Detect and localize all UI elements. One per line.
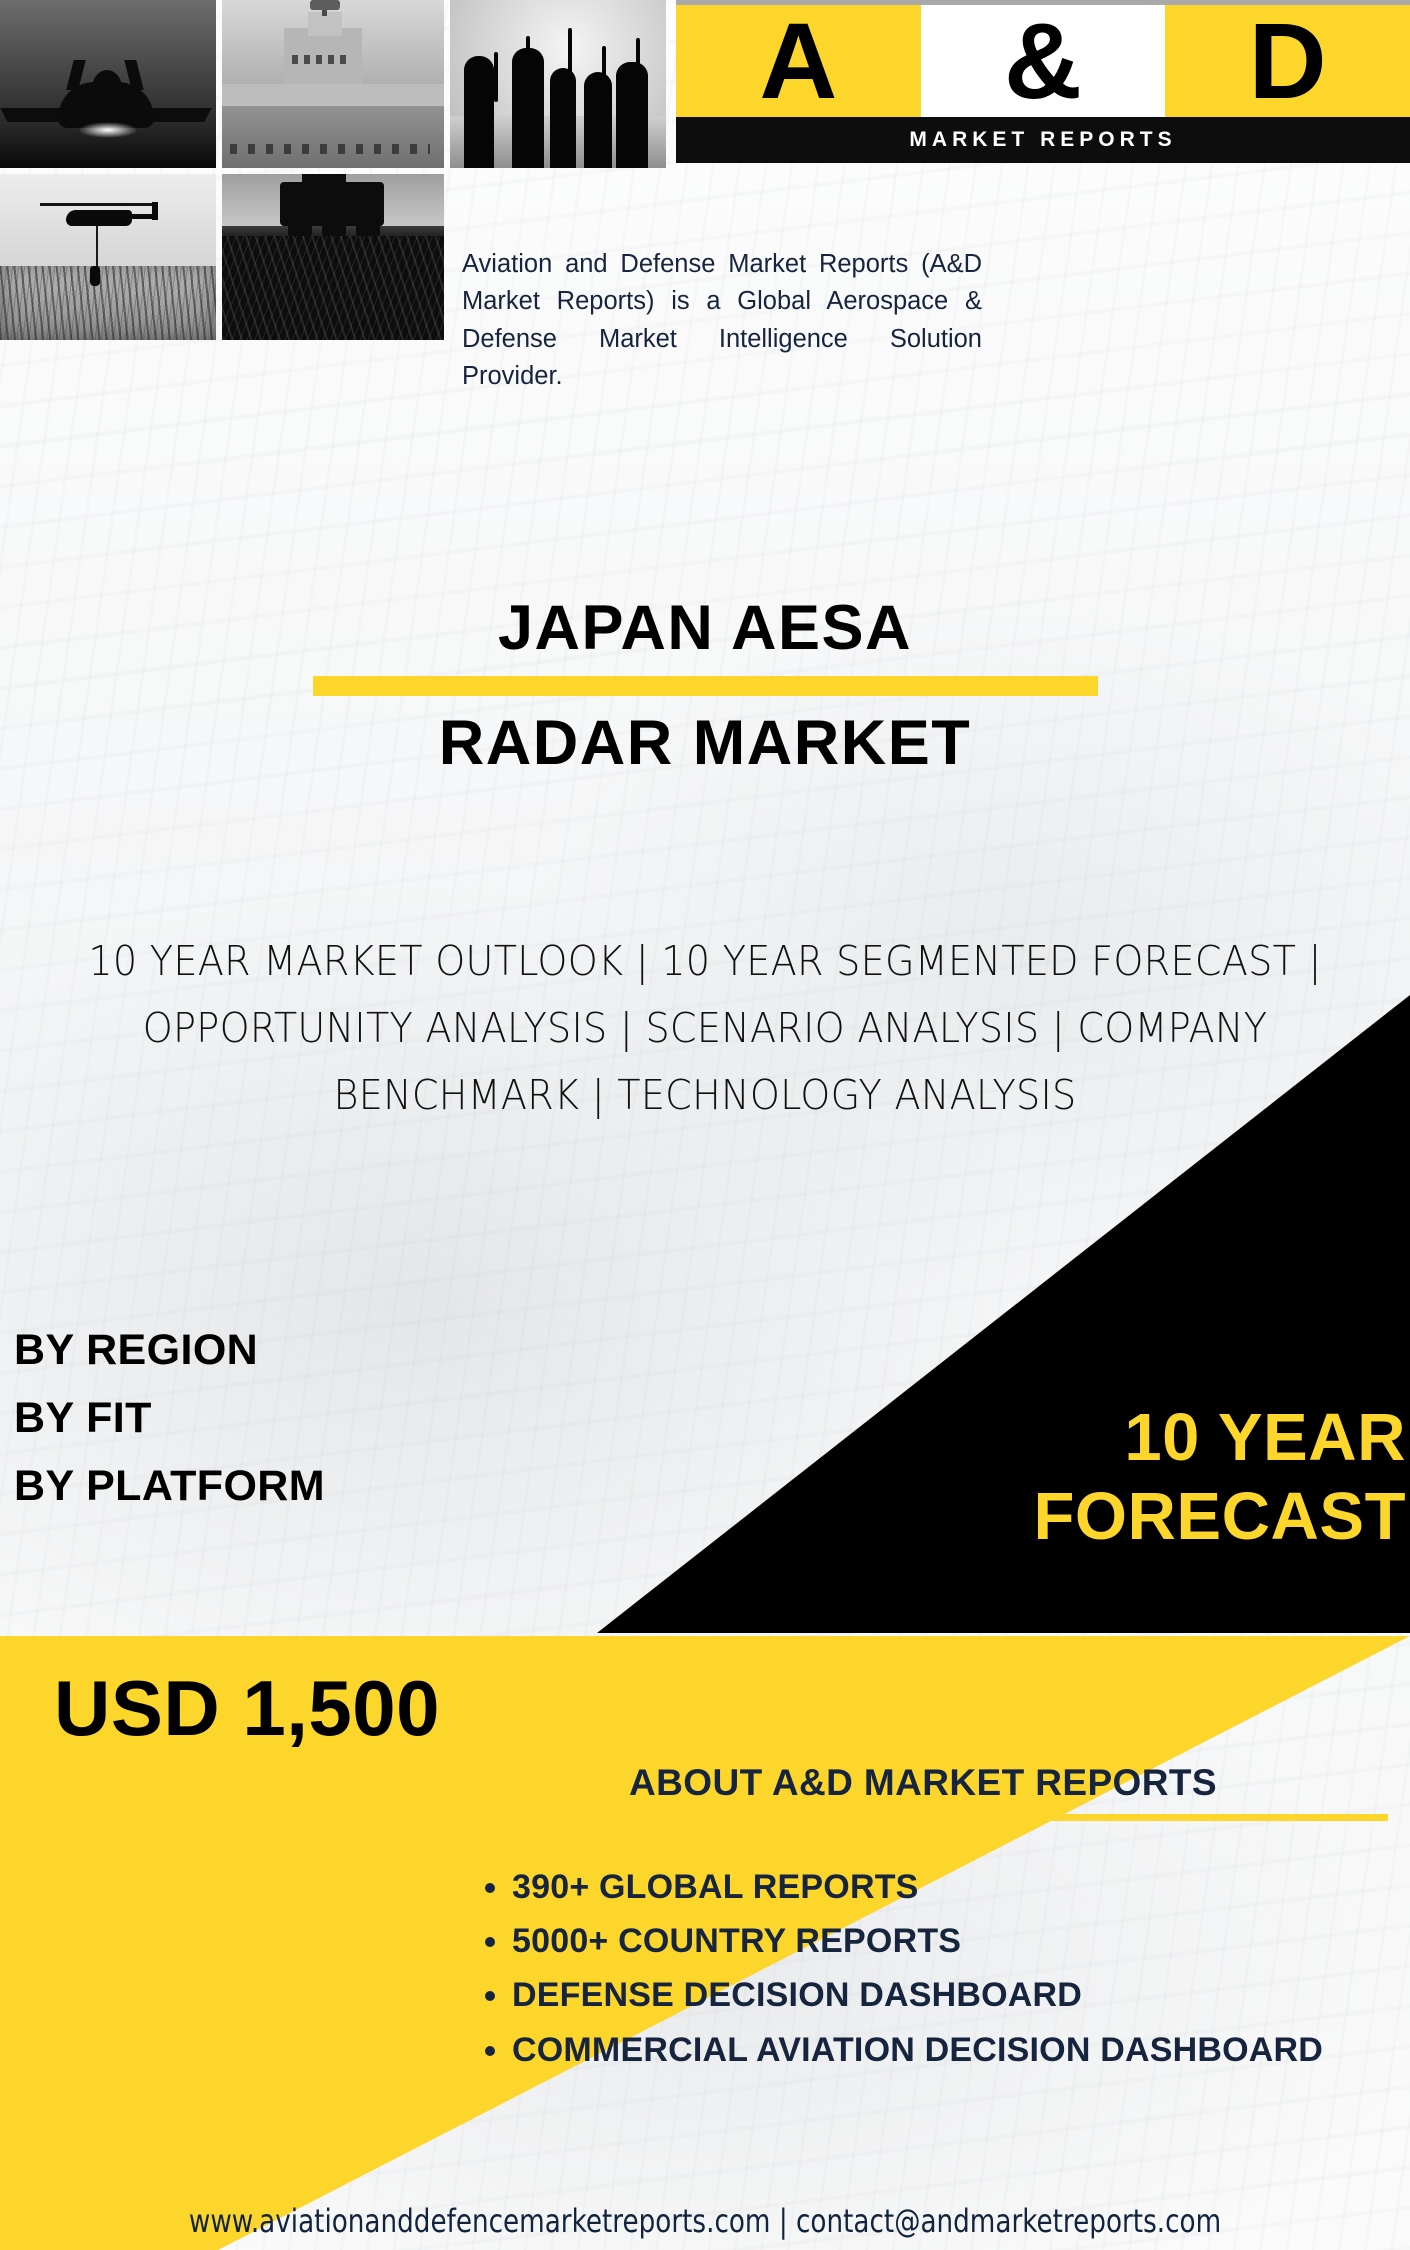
report-scope-subtitle: 10 YEAR MARKET OUTLOOK | 10 YEAR SEGMENT… bbox=[79, 928, 1331, 1128]
logo-letter-d: D bbox=[1165, 5, 1410, 117]
fighter-jet-photo bbox=[0, 0, 216, 168]
list-item: DEFENSE DECISION DASHBOARD bbox=[512, 1973, 1388, 2017]
forecast-badge-line-1: 10 YEAR bbox=[1034, 1398, 1407, 1477]
logo-letter-ampersand: & bbox=[921, 5, 1166, 117]
logo-tagline-bar: MARKET REPORTS bbox=[676, 117, 1410, 163]
photo-row-top bbox=[0, 0, 676, 168]
list-item: COMMERCIAL AVIATION DECISION DASHBOARD bbox=[512, 2028, 1388, 2072]
forecast-badge-line-2: FORECAST bbox=[1034, 1477, 1407, 1556]
logo-letters: A & D bbox=[676, 5, 1410, 117]
logo-letter-a: A bbox=[676, 5, 921, 117]
report-cover-poster: A & D MARKET REPORTS Aviation and Defens… bbox=[0, 0, 1410, 2250]
report-title-line-2: RADAR MARKET bbox=[0, 710, 1410, 777]
segmentation-item-fit: BY FIT bbox=[14, 1385, 325, 1453]
about-bullet-list: 390+ GLOBAL REPORTS 5000+ COUNTRY REPORT… bbox=[458, 1865, 1388, 2072]
segmentation-list: BY REGION BY FIT BY PLATFORM bbox=[14, 1317, 325, 1521]
about-heading: ABOUT A&D MARKET REPORTS bbox=[458, 1762, 1388, 1804]
report-title-line-1: JAPAN AESA bbox=[0, 595, 1410, 662]
about-yellow-rule bbox=[458, 1814, 1388, 1821]
price-label: USD 1,500 bbox=[54, 1663, 440, 1754]
aircraft-carrier-photo bbox=[222, 0, 444, 168]
about-section: ABOUT A&D MARKET REPORTS 390+ GLOBAL REP… bbox=[458, 1762, 1388, 2082]
forecast-badge: 10 YEAR FORECAST bbox=[1034, 1398, 1407, 1556]
list-item: 390+ GLOBAL REPORTS bbox=[512, 1865, 1388, 1909]
helicopter-photo bbox=[0, 174, 216, 340]
list-item: 5000+ COUNTRY REPORTS bbox=[512, 1919, 1388, 1963]
report-title-block: JAPAN AESA RADAR MARKET bbox=[0, 595, 1410, 777]
segmentation-item-platform: BY PLATFORM bbox=[14, 1453, 325, 1521]
brand-logo: A & D MARKET REPORTS bbox=[676, 0, 1410, 163]
armored-vehicle-photo bbox=[222, 174, 444, 340]
logo-tagline: MARKET REPORTS bbox=[909, 128, 1176, 152]
segmentation-item-region: BY REGION bbox=[14, 1317, 325, 1385]
soldiers-silhouette-photo bbox=[450, 0, 666, 168]
footer-contact: www.aviationanddefencemarketreports.com … bbox=[127, 2202, 1283, 2240]
company-intro-text: Aviation and Defense Market Reports (A&D… bbox=[462, 246, 982, 396]
title-yellow-rule bbox=[313, 676, 1098, 696]
